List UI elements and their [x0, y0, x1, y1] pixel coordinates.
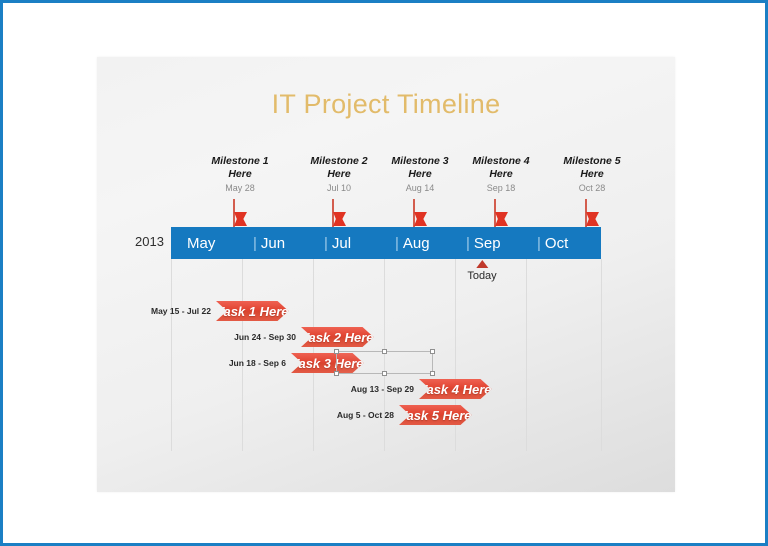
resize-handle-top-right[interactable] [430, 349, 435, 354]
task-4-bar[interactable]: Task 4 Here [419, 379, 492, 399]
flag-banner [414, 212, 427, 226]
milestone-5-name: Milestone 5 Here [544, 155, 640, 181]
year-label: 2013 [135, 234, 164, 249]
resize-handle-top-left[interactable] [334, 349, 339, 354]
task-1-label: Task 1 Here [216, 304, 289, 319]
milestone-4-date: Sep 18 [453, 183, 549, 194]
flag-banner [333, 212, 346, 226]
month-separator: | [537, 235, 541, 252]
task-2-dates: Jun 24 - Sep 30 [234, 332, 296, 342]
month-label: Jul [332, 235, 351, 252]
milestone-1-name: Milestone 1 Here [192, 155, 288, 181]
task-2-bar[interactable]: Task 2 Here [301, 327, 374, 347]
today-label: Today [467, 270, 496, 282]
month-jun[interactable]: | Jun [253, 227, 285, 259]
task-5-bar[interactable]: Task 5 Here [399, 405, 472, 425]
milestone-5[interactable]: Milestone 5 Here Oct 28 [544, 155, 640, 194]
task-row[interactable]: May 15 - Jul 22 Task 1 Here [216, 301, 366, 321]
flag-banner [234, 212, 247, 226]
task-row[interactable]: Jun 24 - Sep 30 Task 2 Here [301, 327, 531, 347]
month-label: Oct [545, 235, 568, 252]
gridline [601, 259, 602, 451]
month-separator: | [466, 235, 470, 252]
task-1-bar[interactable]: Task 1 Here [216, 301, 289, 321]
month-may[interactable]: May [183, 227, 215, 259]
month-aug[interactable]: | Aug [395, 227, 430, 259]
resize-handle-bottom-center[interactable] [382, 371, 387, 376]
month-sep[interactable]: | Sep [466, 227, 501, 259]
month-oct[interactable]: | Oct [537, 227, 568, 259]
task-4-label: Task 4 Here [419, 382, 492, 397]
flag-banner [586, 212, 599, 226]
today-triangle-icon [476, 260, 488, 268]
selection-box[interactable] [336, 351, 433, 374]
month-separator: | [324, 235, 328, 252]
task-2-label: Task 2 Here [301, 330, 374, 345]
resize-handle-top-center[interactable] [382, 349, 387, 354]
milestone-4-name: Milestone 4 Here [453, 155, 549, 181]
resize-handle-bottom-right[interactable] [430, 371, 435, 376]
month-label: Aug [403, 235, 430, 252]
milestone-1[interactable]: Milestone 1 Here May 28 [192, 155, 288, 194]
gridline [242, 259, 243, 451]
month-jul[interactable]: | Jul [324, 227, 351, 259]
task-5-dates: Aug 5 - Oct 28 [337, 410, 394, 420]
task-row[interactable]: Aug 13 - Sep 29 Task 4 Here [419, 379, 526, 399]
flag-banner [495, 212, 508, 226]
task-row[interactable]: Aug 5 - Oct 28 Task 5 Here [399, 405, 595, 425]
slide-canvas: IT Project Timeline Milestone 1 Here May… [97, 57, 675, 492]
task-1-dates: May 15 - Jul 22 [151, 306, 211, 316]
task-5-label: Task 5 Here [399, 408, 472, 423]
month-separator: | [395, 235, 399, 252]
gridline [171, 259, 172, 451]
today-marker[interactable]: Today [467, 260, 496, 282]
timeline-bar[interactable]: May | Jun | Jul | Aug | Sep | Oct [171, 227, 601, 259]
task-4-dates: Aug 13 - Sep 29 [351, 384, 414, 394]
page-frame: IT Project Timeline Milestone 1 Here May… [0, 0, 768, 546]
milestone-4[interactable]: Milestone 4 Here Sep 18 [453, 155, 549, 194]
page-title: IT Project Timeline [97, 89, 675, 120]
milestone-1-date: May 28 [192, 183, 288, 194]
month-separator: | [253, 235, 257, 252]
milestone-5-date: Oct 28 [544, 183, 640, 194]
month-label: Sep [474, 235, 501, 252]
month-label: May [187, 235, 215, 252]
resize-handle-bottom-left[interactable] [334, 371, 339, 376]
month-label: Jun [261, 235, 285, 252]
task-3-dates: Jun 18 - Sep 6 [229, 358, 286, 368]
